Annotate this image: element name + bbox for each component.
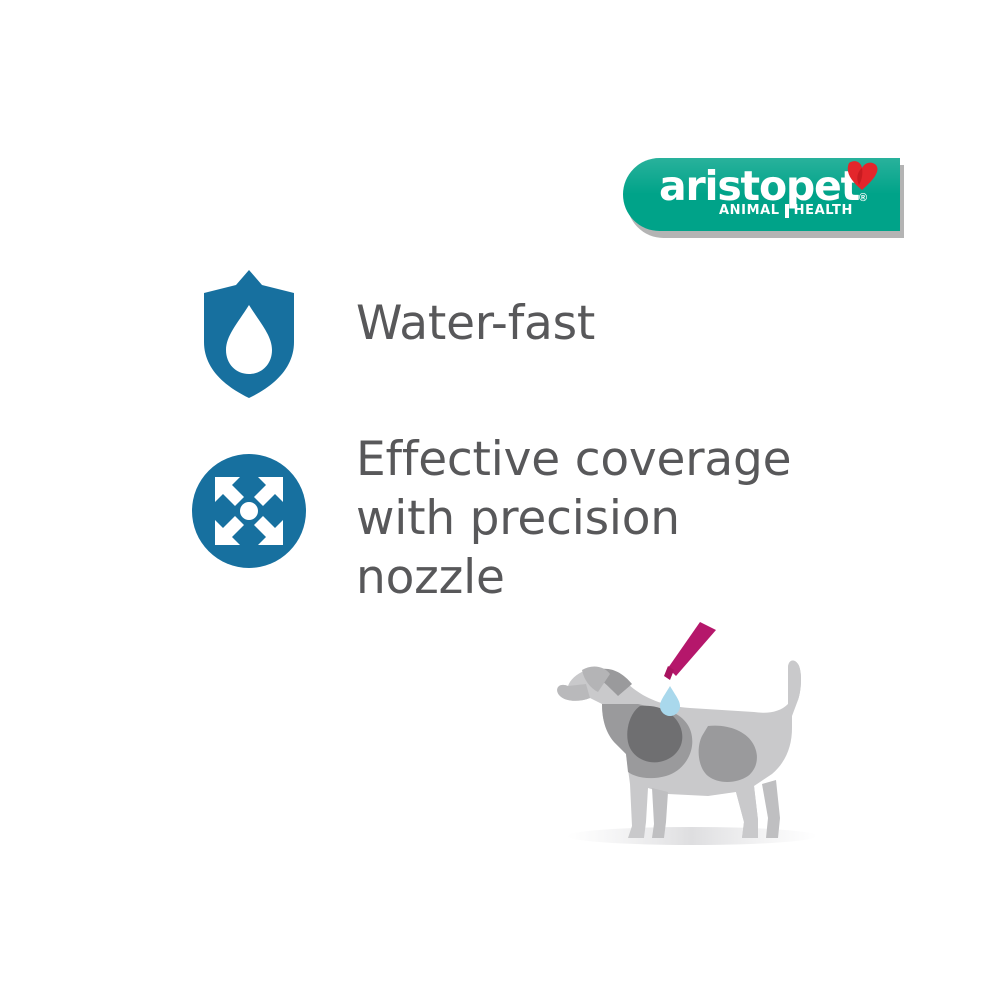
ground-shadow — [567, 827, 817, 845]
shield-water-drop-icon — [190, 268, 308, 400]
water-droplet-icon — [660, 686, 680, 716]
feature-item-effective-coverage: Effective coverage with precision nozzle — [190, 452, 791, 607]
product-feature-infographic: aristopet ® ANIMAL HEALTH Water-fast — [0, 0, 1000, 1000]
brand-tagline: ANIMAL HEALTH — [719, 204, 889, 218]
spray-coverage-arrows-icon — [190, 452, 308, 570]
dog-with-spot-on-applicator — [540, 608, 840, 873]
registered-trademark-mark: ® — [859, 192, 867, 204]
feature-label-effective-coverage: Effective coverage with precision nozzle — [356, 430, 791, 607]
tagline-divider — [785, 204, 789, 218]
tagline-animal: ANIMAL — [719, 204, 780, 218]
brand-wordmark: aristopet — [659, 166, 859, 207]
heart-icon — [845, 160, 879, 192]
dog-muzzle — [557, 684, 590, 701]
pipette-applicator-icon — [664, 622, 716, 680]
feature-item-water-fast: Water-fast — [190, 268, 595, 400]
feature-label-water-fast: Water-fast — [356, 294, 595, 353]
brand-logo: aristopet ® ANIMAL HEALTH — [623, 158, 903, 238]
tagline-health: HEALTH — [794, 204, 853, 218]
